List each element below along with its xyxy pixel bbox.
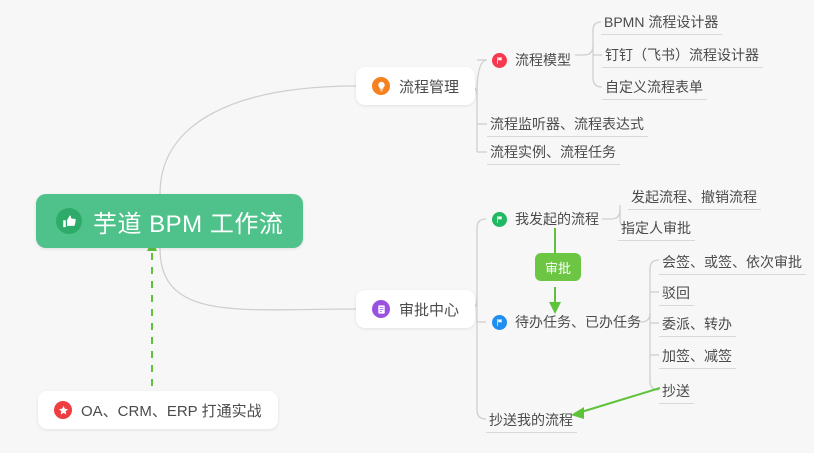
leaf-initiate-cancel-label: 发起流程、撤销流程 <box>631 187 757 207</box>
root-node[interactable]: 芋道 BPM 工作流 <box>36 194 303 248</box>
node-my-initiated-label: 我发起的流程 <box>515 209 599 229</box>
leaf-reject-label: 驳回 <box>662 283 690 303</box>
node-todo-done-tasks[interactable]: 待办任务、已办任务 <box>490 309 643 335</box>
leaf-process-listener[interactable]: 流程监听器、流程表达式 <box>487 111 648 137</box>
edge-root-to-process-management <box>160 86 356 194</box>
leaf-initiate-cancel[interactable]: 发起流程、撤销流程 <box>628 184 761 210</box>
leaf-custom-form-label: 自定义流程表单 <box>605 77 703 97</box>
annotation-badge-approval: 审批 <box>535 253 581 281</box>
mindmap-canvas: 芋道 BPM 工作流 OA、CRM、ERP 打通实战 流程管理 流程模 <box>0 0 814 453</box>
edge-pmodel-trunk <box>575 30 593 55</box>
leaf-cc[interactable]: 抄送 <box>659 378 694 404</box>
node-process-model[interactable]: 流程模型 <box>490 47 573 73</box>
root-label: 芋道 BPM 工作流 <box>93 204 283 239</box>
leaf-delegate-transfer-label: 委派、转办 <box>662 314 732 334</box>
flag-green-icon <box>492 212 507 227</box>
edge-pmodel-trunk-down <box>593 46 602 87</box>
edge-pmodel-leaf-1 <box>593 22 601 30</box>
branch-process-management[interactable]: 流程管理 <box>356 67 475 105</box>
flag-red-icon <box>492 53 507 68</box>
thumbs-up-icon <box>56 208 82 234</box>
annotation-badge-label: 审批 <box>545 258 571 277</box>
leaf-process-listener-label: 流程监听器、流程表达式 <box>490 114 644 134</box>
document-icon <box>372 300 390 318</box>
leaf-cc-label: 抄送 <box>662 381 690 401</box>
floating-note-node[interactable]: OA、CRM、ERP 打通实战 <box>38 391 278 429</box>
leaf-cc-to-me[interactable]: 抄送我的流程 <box>486 407 577 433</box>
lightbulb-icon <box>372 77 390 95</box>
leaf-custom-form[interactable]: 自定义流程表单 <box>602 74 707 100</box>
edge-pm-trunk-up <box>477 60 487 95</box>
leaf-dingtalk-designer-label: 钉钉（飞书）流程设计器 <box>605 45 759 65</box>
branch-approval-center[interactable]: 审批中心 <box>356 290 475 328</box>
node-process-model-label: 流程模型 <box>515 50 571 70</box>
edge-root-to-approval-center <box>160 248 356 310</box>
leaf-add-remove-sign-label: 加签、减签 <box>662 346 732 366</box>
leaf-reject[interactable]: 驳回 <box>659 280 694 306</box>
leaf-countersign-label: 会签、或签、依次审批 <box>662 252 802 272</box>
edge-ac-trunk-down <box>477 300 486 419</box>
node-todo-done-tasks-label: 待办任务、已办任务 <box>515 312 641 332</box>
leaf-delegate-transfer[interactable]: 委派、转办 <box>659 311 736 337</box>
leaf-assigned-approval[interactable]: 指定人审批 <box>618 215 695 241</box>
leaf-assigned-approval-label: 指定人审批 <box>621 218 691 238</box>
arrow-cc-to-ccmine <box>578 388 660 413</box>
leaf-bpmn-designer-label: BPMN 流程设计器 <box>604 12 718 32</box>
flag-blue-icon <box>492 315 507 330</box>
leaf-dingtalk-designer[interactable]: 钉钉（飞书）流程设计器 <box>602 42 763 68</box>
leaf-bpmn-designer[interactable]: BPMN 流程设计器 <box>601 9 722 35</box>
floating-note-label: OA、CRM、ERP 打通实战 <box>81 400 262 421</box>
leaf-cc-to-me-label: 抄送我的流程 <box>489 410 573 430</box>
branch-approval-center-label: 审批中心 <box>399 299 459 320</box>
node-my-initiated[interactable]: 我发起的流程 <box>490 206 601 232</box>
leaf-add-remove-sign[interactable]: 加签、减签 <box>659 343 736 369</box>
leaf-countersign[interactable]: 会签、或签、依次审批 <box>659 249 806 275</box>
leaf-process-instance-label: 流程实例、流程任务 <box>490 142 616 162</box>
leaf-process-instance[interactable]: 流程实例、流程任务 <box>487 139 620 165</box>
edge-todo-trunk-down <box>650 313 659 390</box>
star-icon <box>54 401 72 419</box>
branch-process-management-label: 流程管理 <box>399 76 459 97</box>
